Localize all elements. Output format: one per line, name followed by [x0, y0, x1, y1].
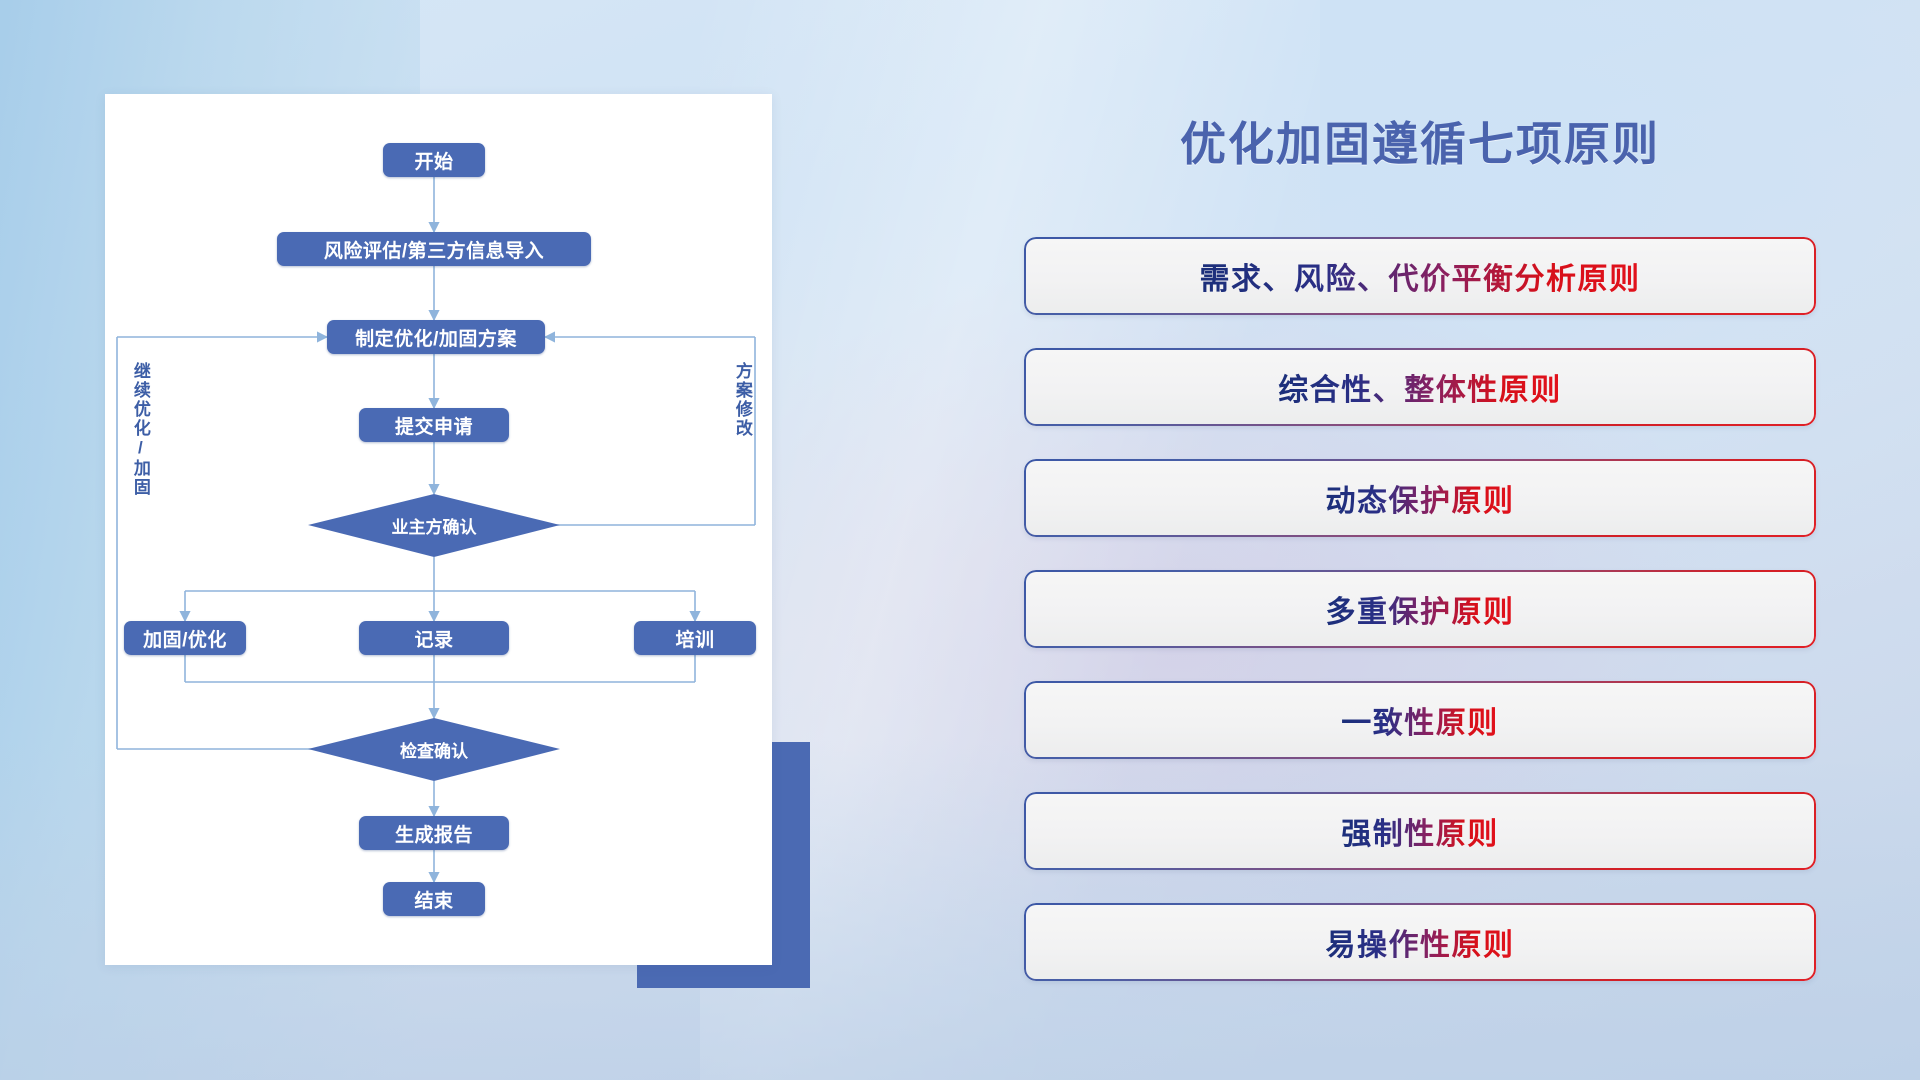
principle-label: 一致性原则 — [1341, 698, 1499, 742]
flow-node-training[interactable]: 培训 — [634, 621, 756, 655]
flow-edge-label-right-loop-text: 方案修改 — [733, 362, 752, 438]
principle-item[interactable]: 动态保护原则 — [1024, 459, 1816, 537]
flow-node-risk-assessment[interactable]: 风险评估/第三方信息导入 — [277, 232, 591, 266]
principle-label: 多重保护原则 — [1326, 587, 1515, 631]
flow-node-end[interactable]: 结束 — [383, 882, 485, 916]
principle-label: 强制性原则 — [1341, 809, 1499, 853]
principle-item[interactable]: 需求、风险、代价平衡分析原则 — [1024, 237, 1816, 315]
flow-node-end-label: 结束 — [414, 886, 453, 913]
principle-label: 易操作性原则 — [1326, 920, 1515, 964]
flow-node-submit-label: 提交申请 — [395, 412, 473, 439]
principle-item[interactable]: 多重保护原则 — [1024, 570, 1816, 648]
decision-check-confirm — [308, 718, 560, 781]
flow-node-report-label: 生成报告 — [395, 820, 473, 847]
principle-label: 需求、风险、代价平衡分析原则 — [1200, 254, 1641, 298]
flow-node-report[interactable]: 生成报告 — [359, 816, 509, 850]
flow-node-reinforce[interactable]: 加固/优化 — [124, 621, 246, 655]
decision-owner-confirm — [308, 494, 560, 557]
flow-node-start-label: 开始 — [414, 147, 453, 174]
flowchart-card: 开始 风险评估/第三方信息导入 制定优化/加固方案 提交申请 业主方确认 加固/… — [105, 94, 772, 965]
flow-node-risk-assessment-label: 风险评估/第三方信息导入 — [324, 236, 544, 263]
flow-edge-label-right-loop: 方案修改 — [733, 362, 751, 438]
principle-item[interactable]: 强制性原则 — [1024, 792, 1816, 870]
flow-node-plan[interactable]: 制定优化/加固方案 — [327, 320, 545, 354]
principle-label: 综合性、整体性原则 — [1278, 365, 1562, 409]
principles-list: 需求、风险、代价平衡分析原则 综合性、整体性原则 动态保护原则 多重保护原则 一… — [1024, 237, 1816, 1014]
principle-item[interactable]: 综合性、整体性原则 — [1024, 348, 1816, 426]
flow-node-training-label: 培训 — [675, 625, 714, 652]
page-title: 优化加固遵循七项原则 — [1010, 108, 1830, 174]
flow-node-reinforce-label: 加固/优化 — [143, 625, 227, 652]
principle-label: 动态保护原则 — [1326, 476, 1515, 520]
flow-node-record-label: 记录 — [414, 625, 453, 652]
flow-edge-label-left-loop-text: 继续优化/加固 — [131, 362, 150, 497]
flow-node-record[interactable]: 记录 — [359, 621, 509, 655]
flow-node-start[interactable]: 开始 — [383, 143, 485, 177]
flow-node-plan-label: 制定优化/加固方案 — [355, 324, 517, 351]
principle-item[interactable]: 一致性原则 — [1024, 681, 1816, 759]
principles-panel: 优化加固遵循七项原则 需求、风险、代价平衡分析原则 综合性、整体性原则 动态保护… — [1010, 0, 1830, 1080]
flow-edge-label-left-loop: 继续优化/加固 — [131, 362, 149, 497]
flow-node-submit[interactable]: 提交申请 — [359, 408, 509, 442]
principle-item[interactable]: 易操作性原则 — [1024, 903, 1816, 981]
